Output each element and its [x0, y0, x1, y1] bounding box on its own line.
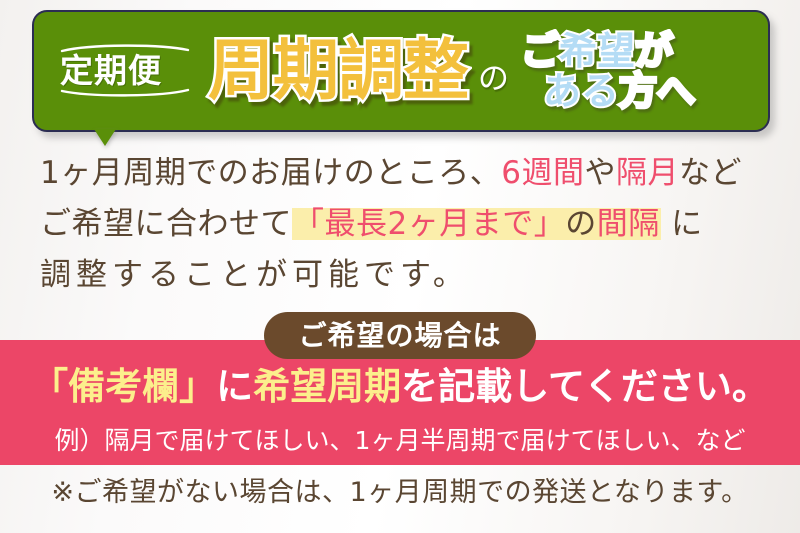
- wish-exists-keyword: ある: [543, 69, 619, 113]
- description-line1-normal-b: や: [584, 155, 616, 191]
- subscription-label: 定期便: [60, 54, 190, 87]
- wish-subtitle-group: ご希望が ある方へ: [521, 32, 695, 111]
- description-line-3: 調整することが可能です。: [40, 250, 800, 301]
- description-paragraph: 1ヶ月周期でのお届けのところ、6週間や隔月など ご希望に合わせて「最長2ヶ月まで…: [0, 148, 800, 301]
- subscription-label-group: 定期便: [56, 40, 194, 103]
- wish-prefix: ご: [521, 29, 559, 73]
- status-badge-label: ご希望の場合は: [298, 322, 501, 350]
- footer-note: ※ご希望がない場合は、1ヶ月周期での発送となります。: [0, 479, 800, 506]
- instruction-action: を記載してください。: [401, 365, 769, 408]
- description-line2-normal-b: の: [565, 206, 597, 242]
- wish-subtitle-line-1: ご希望が: [521, 32, 695, 72]
- remarks-field-keyword: 「備考欄」: [31, 365, 216, 408]
- description-interval-six-weeks: 6週間: [501, 155, 584, 191]
- instruction-example: 例）隔月で届けてほしい、1ヶ月半周期で届けてほしい、など: [0, 428, 800, 453]
- instruction-headline: 「備考欄」に希望周期を記載してください。: [0, 368, 800, 405]
- speech-bubble-tail: [94, 129, 116, 146]
- desired-cycle-keyword: 希望周期: [253, 365, 401, 408]
- description-line2-normal-a: ご希望に合わせて: [40, 206, 292, 242]
- description-line-2: ご希望に合わせて「最長2ヶ月まで」の間隔 に: [40, 199, 800, 250]
- header-speech-bubble: 定期便 周期調整 の ご希望が ある方へ: [32, 10, 770, 132]
- header-green-box: 定期便 周期調整 の ご希望が ある方へ: [32, 10, 770, 132]
- page-title: 周期調整: [208, 38, 468, 104]
- description-max-interval-quote: 「最長2ヶ月まで」: [293, 206, 565, 242]
- wish-subtitle-line-2: ある方へ: [521, 72, 695, 112]
- description-interval-word: 間隔: [597, 206, 660, 242]
- description-line-1: 1ヶ月周期でのお届けのところ、6週間や隔月など: [40, 148, 800, 199]
- description-line2-normal-c: に: [661, 206, 703, 242]
- description-line1-normal-c: など: [679, 155, 742, 191]
- status-badge: ご希望の場合は: [264, 312, 536, 359]
- wish-particle: が: [635, 29, 673, 73]
- wish-keyword: 希望: [559, 29, 635, 73]
- description-line1-normal-a: 1ヶ月周期でのお届けのところ、: [40, 155, 501, 191]
- instruction-particle: に: [216, 365, 253, 408]
- title-connector: の: [478, 64, 509, 95]
- description-interval-every-other-month: 隔月: [616, 155, 679, 191]
- wish-audience: 方へ: [619, 69, 695, 113]
